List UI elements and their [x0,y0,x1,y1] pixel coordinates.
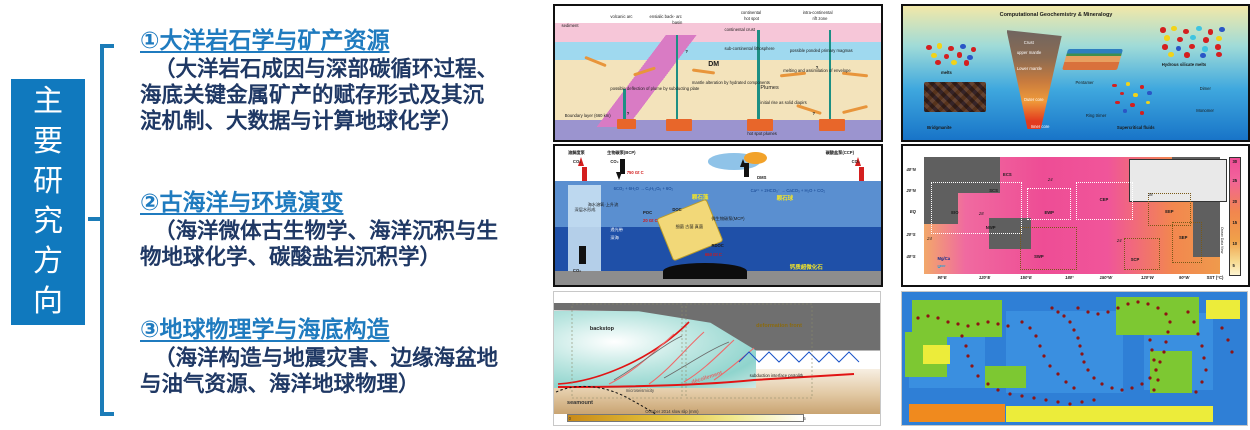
sst-cbtick-5: 5 [1232,263,1234,268]
label-carbonate-eq: Ca²⁺ + 2HCO₃⁻ → CaCO₃ + H₂O + CO₂ [751,188,826,193]
research-directions-list: ①大洋岩石学与矿产资源 （大洋岩石成因与深部碳循环过程、 海底关键金属矿产的赋存… [140,12,540,422]
bracket-stub-middle [88,217,104,221]
carbon-arrow-shaft-3 [859,167,864,181]
badge-char-2: 研 [33,162,63,202]
label-mantle-alteration: mantle alteration by hydrated components [692,80,770,85]
sst-region-box-sep [1172,222,1202,263]
topic-1-body-line-1: 海底关键金属矿产的赋存形式及其沉 [140,82,540,108]
label-pentamer: Pentamer [1076,80,1094,85]
topic-1-body: （大洋岩石成因与深部碳循环过程、 海底关键金属矿产的赋存形式及其沉 淀机制、大数… [140,56,540,134]
mantle-hotspot-4 [617,119,637,130]
carbon-arrow-shaft-1 [582,167,587,181]
seismic-slow-slip-colorbar [567,414,804,423]
sst-region-sep: SEP [1179,235,1187,240]
topic-2-body-line-0: （海洋微体古生物学、海洋沉积与生 [140,218,540,244]
grouping-bracket [96,44,118,416]
sst-region-cep: CEP [1100,197,1109,202]
label-slow-slip-max: 5 [803,416,805,421]
seismic-canvas: backstop deformation front décollement s… [554,292,880,425]
sst-xtick-120w: 120°W [1141,275,1154,280]
label-seamount: seamount [567,401,593,406]
topic-3-body-line-0: （海洋构造与地震灾害、边缘海盆地 [140,345,540,371]
carbon-arrow-shaft-4 [579,246,586,264]
label-rdoc: RDOC [711,243,723,248]
sst-ytick-eq: EQ [910,209,916,214]
label-crust: Crust [1024,40,1034,45]
figure-mantle-cross-section: volcanic arc ensialic back- arc basin co… [553,4,883,142]
carbon-arrow-up-dms [740,159,746,167]
label-continental-crust: continental crust [725,27,756,32]
label-750-gtc: 750 Gt C [627,170,644,175]
figure-grid: volcanic arc ensialic back- arc basin co… [553,4,1248,428]
sst-colorbar [1229,157,1241,276]
sst-xtick-150w: 150°W [1100,275,1113,280]
sst-contour-24a: 24 [1048,177,1053,182]
mantle-plume-1 [676,35,679,129]
sst-region-box-swp [1020,227,1077,271]
sst-contour-24b: 24 [927,236,932,241]
bracket-stub-bottom [100,412,114,416]
label-poc: POC [643,210,652,215]
mantle-hotspot-3 [819,119,845,131]
sst-region-eep: EEP [1165,209,1173,214]
geochem-hydrous-melts-cluster [1158,25,1230,59]
sst-region-scs: SCS [989,188,998,193]
label-supercritical-fluids: Supercritical fluids [1117,125,1155,130]
sst-region-box-eio [931,182,1023,234]
sst-contour-28a: 28 [979,211,984,216]
sst-ytick-40s: 40°S [906,254,915,259]
label-hot-spot-plumes: hot spot plumes [747,131,777,136]
topic-2-body-line-1: 物地球化学、碳酸盐岩沉积学） [140,244,540,270]
label-co2-left: CO₂ [573,159,581,164]
label-coccosphere: 颗石球 [777,197,794,202]
carbon-pump-canvas: 溶解度泵 生物碳泵(BCP) 碳酸盐泵(CCP) CO₂ CO₂ CO₂ CO₂… [555,146,881,285]
sst-xtick-90e: 90°E [938,275,947,280]
label-basin: basin [672,20,682,25]
badge-char-1: 要 [33,122,63,162]
label-doc: DOC [672,207,681,212]
sst-colorbar-label: SST (°C) [1207,275,1224,280]
figure-global-earthquake-map [901,291,1248,426]
sst-ytick-20s: 20°S [906,232,915,237]
geochem-subduction-block [1062,49,1123,70]
sst-cbtick-25: 25 [1232,178,1237,183]
sst-region-swp: SWP [1034,254,1044,259]
sst-region-scp: SCP [1131,257,1140,262]
sst-contour-28b: 28 [1148,192,1153,197]
label-mcp: 微生物碳泵(MCP) [711,216,744,221]
carbon-arrow-down-black [616,172,622,180]
label-continental: continental [741,10,761,15]
label-plume-deflection: possible deflection of plume by subducti… [610,86,699,91]
topic-1-title: ①大洋岩石学与矿产资源 [140,26,540,54]
label-ring-trimer: Ring trimer [1086,113,1106,118]
sst-region-box-ewp [1027,188,1070,221]
label-solubility-pump: 溶解度泵 [568,150,585,155]
bracket-stub-top [100,44,114,48]
label-ensialic-back-arc: ensialic back- arc [650,14,682,19]
label-deformation-front: deformation front [756,324,802,329]
badge-char-0: 主 [33,82,63,122]
label-sub-continental-lithosphere: sub-continental lithosphere [725,46,775,51]
sst-region-ewp: EWP [1044,210,1054,215]
label-sediment: sediment [562,23,579,28]
sst-xtick-90w: 90°W [1179,275,1189,280]
topic-3-title: ③地球物理学与海底构造 [140,315,540,343]
label-euphotic-zone: 透光带 [610,227,623,232]
badge-char-5: 向 [33,282,63,322]
mantle-canvas: volcanic arc ensialic back- arc basin co… [555,6,881,140]
label-inner-core: Inner core [1031,124,1050,129]
topic-3: ③地球物理学与海底构造 （海洋构造与地震灾害、边缘海盆地 与油气资源、海洋地球物… [140,315,540,397]
label-question-2: ? [816,65,819,70]
label-subduction-interface-protolith: subduction interface protolith [750,373,804,378]
label-hydrous-silicate-melts: Hydrous silicate melts [1162,62,1206,67]
sst-legend-uk37: Uᴷᴷᶠ [938,264,946,269]
label-question-1: ? [685,49,688,54]
sst-cbtick-15: 15 [1232,220,1237,225]
label-monomer: Monomer [1196,108,1214,113]
mantle-hotspot-2 [747,119,773,131]
topic-1-body-line-2: 淀机制、大数据与计算地球化学） [140,108,540,134]
badge-char-3: 究 [33,202,63,242]
sst-xtick-180: 180° [1065,275,1074,280]
sst-colorbar-caption: Ocean Data View [1219,227,1224,253]
label-hot-spot: hot spot [744,16,759,21]
label-rift-zone: rift zone [813,16,828,21]
sst-region-nwp: NWP [986,225,996,230]
badge-char-4: 方 [33,242,63,282]
figure-ocean-carbon-pump: 溶解度泵 生物碳泵(BCP) 碳酸盐泵(CCP) CO₂ CO₂ CO₂ CO₂… [553,144,883,287]
figure-computational-geochemistry: Computational Geochemistry & Mineralogy … [901,4,1250,142]
geochem-canvas: Computational Geochemistry & Mineralogy … [903,6,1248,140]
label-coccolithophore: 颗石藻 [692,196,709,201]
carbon-black-mound [663,263,748,280]
label-dimer: Dimer [1200,86,1211,91]
figure-subduction-seismic-section: backstop deformation front décollement s… [553,291,881,426]
seismic-fault-overlay [554,292,880,425]
label-backstop: backstop [590,327,614,332]
topic-3-body-line-1: 与油气资源、海洋地球物理） [140,371,540,397]
label-co2-bcp: CO₂ [610,159,618,164]
label-slow-slip-min: 0 [569,416,571,421]
geochem-supercritical-cluster [1103,80,1179,120]
geochem-bridgmanite-lattice [924,82,986,111]
label-DM: DM [708,62,719,67]
label-intra-continental: intra-continental [803,10,833,15]
label-slow-slip-title: October 2014 slow slip (mm) [645,409,698,414]
label-bridgmanite: Bridgmanite [927,125,951,130]
quakemap-epicenter-belts [902,292,1247,425]
label-initial-rise-diapirs: initial rise as solid diapirs [760,100,806,105]
sst-xtick-150e: 150°E [1020,275,1031,280]
topic-2: ②古海洋与环境演变 （海洋微体古生物学、海洋沉积与生 物地球化学、碳酸盐岩沉积学… [140,188,540,270]
label-20-gtc: 20 Gt C [643,218,658,223]
label-dms: DMS [757,175,766,180]
sst-contour-24c: 24 [1117,238,1122,243]
topic-3-body: （海洋构造与地震灾害、边缘海盆地 与油气资源、海洋地球物理） [140,345,540,397]
label-question-4: ? [813,111,816,116]
label-melts: melts [941,70,952,75]
bracket-spine [100,44,104,416]
label-question-3: ? [627,111,630,116]
quakemap-canvas [902,292,1247,425]
sst-ytick-40n: 40°N [906,167,915,172]
mantle-plume-3 [829,30,832,129]
label-microbes: 细菌 古菌 真菌 [676,224,703,229]
label-upwelling: 海水溶氧·上升流 [588,202,619,207]
sst-canvas: 40°N 20°N EQ 20°S 40°S 90°E 120°E 150°E … [903,146,1248,285]
topic-1: ①大洋岩石学与矿产资源 （大洋岩石成因与深部碳循环过程、 海底关键金属矿产的赋存… [140,26,540,134]
sst-region-eio: EIO [951,210,958,215]
sst-cbtick-10: 10 [1232,241,1237,246]
sst-region-box-scp [1124,238,1161,271]
label-ponded-primary-magmas: possible ponded primary magmas [790,48,853,53]
label-lower-mantle: Lower mantle [1017,66,1042,71]
sst-ytick-20n: 20°N [906,188,915,193]
label-upper-mantle: upper mantle [1017,50,1041,55]
label-co2-ccp: CO₂ [852,159,860,164]
topic-2-title: ②古海洋与环境演变 [140,188,540,216]
label-650-gtc: 650 Gt C [705,252,722,257]
main-research-directions-badge: 主 要 研 究 方 向 [11,79,85,325]
label-calcareous-nannofossil: 钙质超微化石 [790,266,823,271]
label-outer-core: Outer core [1024,97,1044,102]
sst-legend-mgca: Mg/Ca [938,256,951,261]
sst-region-ecs: ECS [1003,172,1012,177]
sst-cbtick-30: 30 [1232,159,1237,164]
label-deep-sea: 深海 [610,235,618,240]
label-deep-water-formation: 深层水形成 [575,207,596,212]
geochem-title: Computational Geochemistry & Mineralogy [1000,13,1113,18]
label-photosynthesis-eq: 6CO₂ + 6H₂O → C₆H₁₂O₆ + 6O₂ [614,186,673,191]
label-ccp: 碳酸盐泵(CCP) [826,150,854,155]
label-bcp: 生物碳泵(BCP) [607,150,635,155]
topic-2-body: （海洋微体古生物学、海洋沉积与生 物地球化学、碳酸盐岩沉积学） [140,218,540,270]
topic-1-body-line-0: （大洋岩石成因与深部碳循环过程、 [140,56,540,82]
label-microseismicity: microseismicity [626,388,654,393]
mantle-hotspot-1 [666,119,692,131]
label-volcanic-arc: volcanic arc [610,14,632,19]
label-plumes: Plumes [760,86,778,91]
figure-sst-map: 40°N 20°N EQ 20°S 40°S 90°E 120°E 150°E … [901,144,1250,287]
label-boundary-layer: Boundary layer (660 km) [565,113,611,118]
label-co2-bottom: CO₂ [573,268,581,273]
sst-xtick-120e: 120°E [979,275,990,280]
geochem-melts-cluster [924,42,983,66]
sst-cbtick-20: 20 [1232,199,1237,204]
